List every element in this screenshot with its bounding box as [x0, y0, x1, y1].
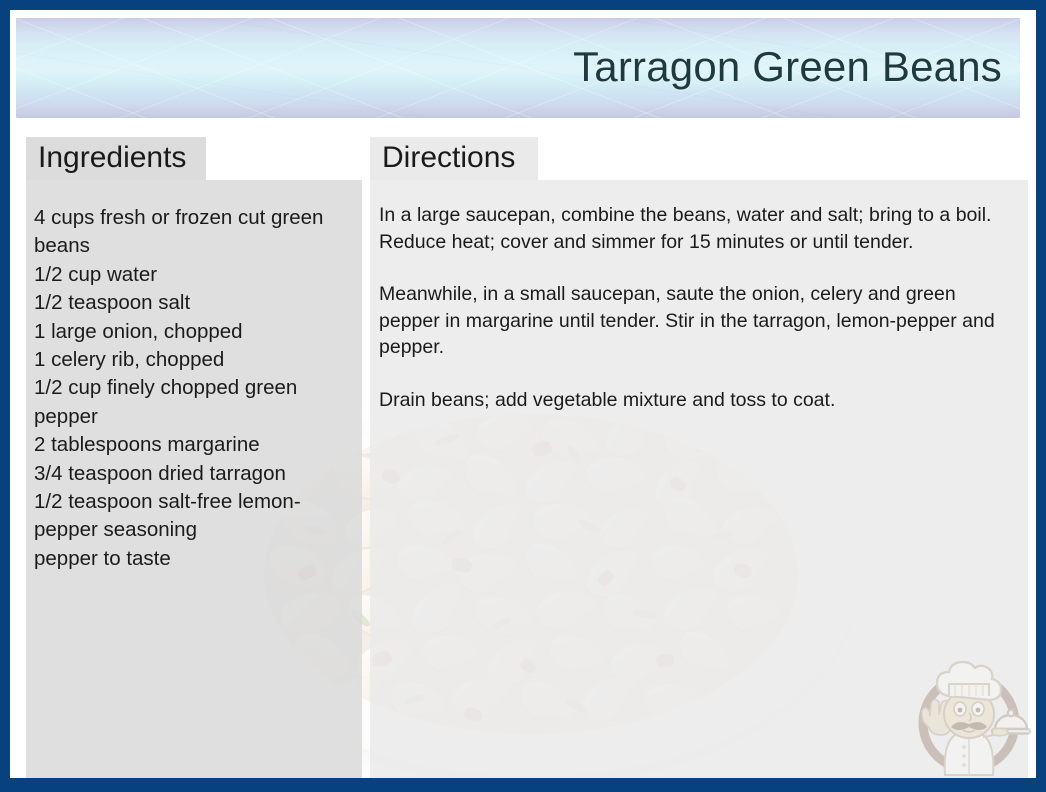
header-banner: Tarragon Green Beans — [16, 18, 1020, 118]
list-item: 1 celery rib, chopped — [34, 346, 354, 374]
list-item: 1/2 teaspoon salt — [34, 289, 354, 317]
ingredients-panel: 4 cups fresh or frozen cut green beans 1… — [26, 180, 362, 778]
directions-heading: Directions — [370, 137, 538, 180]
direction-step: Meanwhile, in a small saucepan, saute th… — [379, 281, 1019, 361]
recipe-page: Tarragon Green Beans — [10, 10, 1036, 778]
list-item: 4 cups fresh or frozen cut green beans — [34, 204, 354, 261]
list-item: 1/2 cup finely chopped green pepper — [34, 374, 354, 431]
direction-step: In a large saucepan, combine the beans, … — [379, 202, 1019, 255]
page-title: Tarragon Green Beans — [573, 43, 1002, 91]
directions-body: In a large saucepan, combine the beans, … — [379, 202, 1019, 413]
recipe-card: Tarragon Green Beans — [0, 0, 1046, 792]
list-item: 1/2 cup water — [34, 261, 354, 289]
directions-panel: In a large saucepan, combine the beans, … — [370, 180, 1028, 778]
ingredients-list: 4 cups fresh or frozen cut green beans 1… — [34, 204, 354, 573]
list-item: 2 tablespoons margarine — [34, 431, 354, 459]
list-item: 1 large onion, chopped — [34, 318, 354, 346]
direction-step: Drain beans; add vegetable mixture and t… — [379, 387, 1019, 414]
list-item: pepper to taste — [34, 545, 354, 573]
list-item: 1/2 teaspoon salt-free lemon-pepper seas… — [34, 488, 354, 545]
list-item: 3/4 teaspoon dried tarragon — [34, 460, 354, 488]
ingredients-heading: Ingredients — [26, 137, 206, 180]
